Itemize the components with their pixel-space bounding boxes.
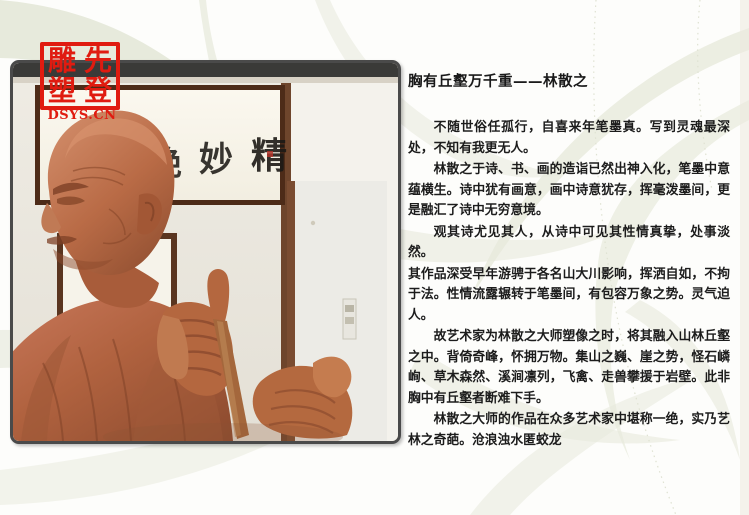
watermark-seal: 雕 先 塑 登 (40, 42, 120, 110)
paragraph: 故艺术家为林散之大师塑像之时，将其融入山林丘壑之中。背倚奇峰，怀拥万物。集山之巍… (408, 327, 730, 409)
seal-char-4: 登 (80, 76, 116, 106)
seal-char-3: 塑 (44, 76, 80, 106)
paragraph: 林散之大师的作品在众多艺术家中堪称一绝，实乃艺林之奇葩。沧浪浊水匿蛟龙 (408, 410, 730, 451)
paragraph: 观其诗尤见其人，从诗中可见其性情真挚，处事淡然。 (408, 223, 730, 264)
paragraph: 不随世俗任孤行，自喜来年笔墨真。写到灵魂最深处，不知有我更无人。 (408, 118, 730, 159)
article-body: 不随世俗任孤行，自喜来年笔墨真。写到灵魂最深处，不知有我更无人。 林散之于诗、书… (408, 118, 730, 451)
svg-text:妙: 妙 (199, 140, 233, 180)
page-root: 精 妙 绝 伦 書於金 陵之 (0, 0, 749, 515)
article: 胸有丘壑万千重——林散之 不随世俗任孤行，自喜来年笔墨真。写到灵魂最深处，不知有… (408, 72, 730, 452)
paragraph: 其作品深受早年游骋于各名山大川影响，挥洒自如，不拘于法。性情流露辗转于笔墨间，有… (408, 265, 730, 327)
paragraph: 林散之于诗、书、画的造诣已然出神入化，笔墨中意蕴横生。诗中犹有画意，画中诗意犹存… (408, 160, 730, 222)
seal-char-1: 雕 (44, 46, 80, 76)
page-title: 胸有丘壑万千重——林散之 (408, 72, 730, 92)
seal-char-2: 先 (80, 46, 116, 76)
watermark-site-url: DSYS.CN (38, 108, 126, 123)
